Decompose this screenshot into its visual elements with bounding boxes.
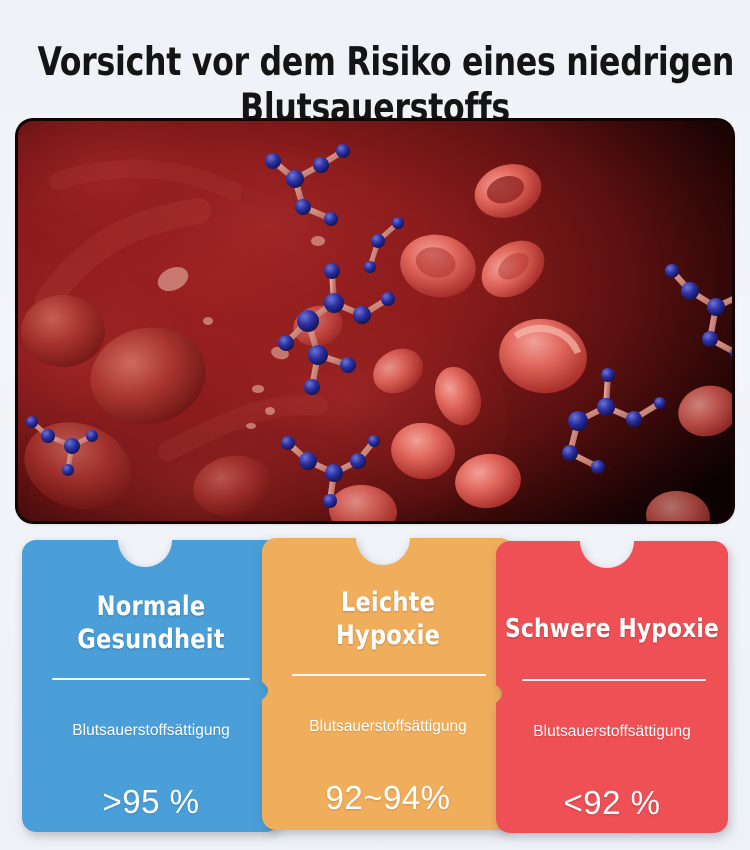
card-title-normal: Normale Gesundheit <box>31 590 271 656</box>
card-divider-normal <box>52 678 250 680</box>
card-title-normal-line1: Normale <box>31 590 271 623</box>
card-label-severe: Blutsauerstoffsättigung <box>496 723 728 741</box>
card-title-normal-line2: Gesundheit <box>31 623 271 656</box>
card-divider-severe <box>522 679 706 681</box>
card-value-mild: 92~94% <box>262 779 514 817</box>
card-value-severe: <92 % <box>496 784 728 822</box>
severity-cards: Normale Gesundheit Blutsauerstoffsättigu… <box>0 530 750 850</box>
card-normal-health[interactable]: Normale Gesundheit Blutsauerstoffsättigu… <box>22 540 280 832</box>
card-title-mild-line2: Hypoxie <box>271 619 505 652</box>
infographic-page: Vorsicht vor dem Risiko eines niedrigen … <box>0 0 750 850</box>
card-title-severe: Schwere Hypoxie <box>504 613 720 646</box>
card-value-normal: >95 % <box>22 783 280 821</box>
card-label-normal: Blutsauerstoffsättigung <box>22 722 280 740</box>
card-label-mild: Blutsauerstoffsättigung <box>262 718 514 736</box>
card-divider-mild <box>292 674 486 676</box>
card-severe-hypoxia[interactable]: Schwere Hypoxie Blutsauerstoffsättigung … <box>496 541 728 833</box>
card-title-mild-line1: Leichte <box>271 586 505 619</box>
blood-vessel-illustration <box>18 121 732 521</box>
card-mild-hypoxia[interactable]: Leichte Hypoxie Blutsauerstoffsättigung … <box>262 538 514 830</box>
card-title-mild: Leichte Hypoxie <box>271 586 505 652</box>
page-title-line-1: Vorsicht vor dem Risiko eines niedrigen <box>38 40 713 86</box>
hero-image <box>18 121 732 521</box>
card-title-severe-line1: Schwere Hypoxie <box>504 613 720 646</box>
page-title: Vorsicht vor dem Risiko eines niedrigen … <box>38 40 713 132</box>
